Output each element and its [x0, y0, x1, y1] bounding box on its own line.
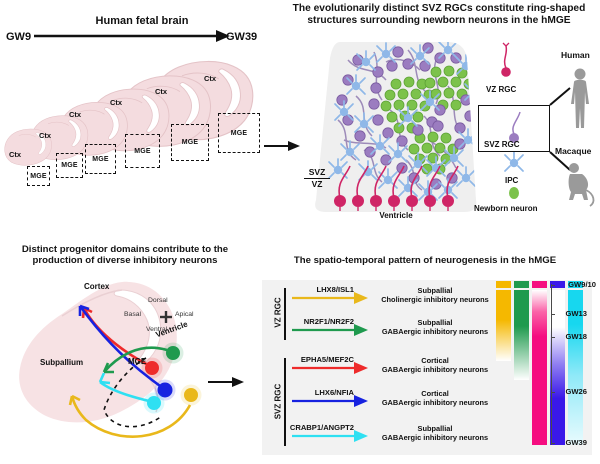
panel-c-to-d-arrow — [208, 377, 244, 387]
species-connectors — [550, 88, 570, 170]
arrowhead-nr2f1-nr2f2 — [354, 324, 368, 336]
panel-progenitor-domains: Distinct progenitor domains contribute t… — [0, 240, 252, 464]
legend-label-vz-rgc: VZ RGC — [486, 85, 516, 94]
arrowhead-crabp1-angpt2 — [354, 430, 368, 442]
gene-label-row-3: EPHA5/MEF2C — [278, 355, 354, 364]
tick-gw26 — [552, 392, 555, 393]
gw-label-2: GW13 — [565, 309, 587, 318]
neuron-type-row-5-line1: Subpallial — [370, 424, 500, 433]
ctx-label-6: Ctx — [204, 74, 216, 83]
gw-label-1: GW9/10 — [568, 280, 596, 289]
species-label-macaque: Macaque — [555, 146, 591, 156]
gene-label-row-4: LHX6/NFIA — [282, 388, 354, 397]
gw-label-5: GW39 — [565, 438, 587, 447]
neuron-type-row-2-line2: GABAergic inhibitory neurons — [370, 327, 500, 336]
green-domain-dot — [166, 346, 180, 360]
timeline-end-label: GW39 — [226, 31, 257, 43]
tick-gw13 — [552, 314, 555, 315]
bar-nr2f1-nr2f2 — [514, 290, 529, 380]
compass-basal: Basal — [124, 311, 141, 318]
panel-fetal-brain-timeline: Human fetal brain GW9 GW39 Ctx Ctx Ctx C… — [0, 0, 300, 232]
mge-box-3: MGE — [85, 144, 116, 174]
mge-label: MGE — [128, 357, 146, 366]
neuron-type-row-4: Cortical GABAergic inhibitory neurons — [370, 389, 500, 408]
tick-gw9-10 — [552, 285, 555, 286]
cortex-label: Cortex — [84, 282, 109, 291]
legend-label-svz-rgc: SVZ RGC — [484, 140, 520, 149]
legend-vz-rgc-glyph — [501, 43, 511, 77]
bar-epha5-mef2c — [532, 290, 547, 445]
yellow-domain-dot — [184, 388, 198, 402]
ctx-label-4: Ctx — [110, 98, 122, 107]
neuron-type-row-5: Subpallial GABAergic inhibitory neurons — [370, 424, 500, 443]
gestational-week-axis — [551, 284, 552, 445]
svz-vz-zone-label: SVZ VZ — [304, 168, 330, 190]
neuron-type-row-4-line1: Cortical — [370, 389, 500, 398]
neuron-type-row-4-line2: GABAergic inhibitory neurons — [370, 398, 500, 407]
ctx-label-2: Ctx — [39, 131, 51, 140]
bar-cap-lhx8-isl1 — [496, 281, 511, 288]
legend-label-newborn-neuron: Newborn neuron — [474, 204, 538, 213]
compass-dorsal: Dorsal — [148, 297, 168, 304]
legend-label-ipc: IPC — [505, 176, 518, 185]
mge-box-2: MGE — [56, 153, 83, 178]
neuron-type-row-1: Subpallial Cholinergic inhibitory neuron… — [370, 286, 500, 305]
macaque-silhouette — [569, 163, 594, 206]
timeline-arrow — [34, 30, 230, 42]
neuron-type-row-2-line1: Subpallial — [370, 318, 500, 327]
gw-label-3: GW18 — [565, 332, 587, 341]
legend-newborn-neuron-glyph — [509, 187, 519, 199]
arrowhead-lhx6-nfia — [354, 395, 368, 407]
ventricle-label: Ventricle — [316, 211, 476, 220]
panel-spatiotemporal-neurogenesis: The spatio-temporal pattern of neurogene… — [252, 252, 600, 464]
species-label-human: Human — [561, 50, 590, 60]
compass-ventral: Ventral — [146, 326, 167, 333]
neuron-type-row-3-line1: Cortical — [370, 356, 500, 365]
arrowhead-lhx8-isl1 — [354, 292, 368, 304]
neuron-type-row-5-line2: GABAergic inhibitory neurons — [370, 433, 500, 442]
svz-label: SVZ — [309, 167, 326, 177]
mge-box-1: MGE — [27, 166, 50, 186]
gene-label-row-2: NR2F1/NR2F2 — [282, 317, 354, 326]
gene-label-row-5: CRABP1/ANGPT2 — [274, 423, 354, 432]
neuron-type-row-2: Subpallial GABAergic inhibitory neurons — [370, 318, 500, 337]
tick-gw18 — [552, 337, 555, 338]
gene-label-row-1: LHX8/ISL1 — [286, 285, 354, 294]
neuron-type-row-3-line2: GABAergic inhibitory neurons — [370, 365, 500, 374]
bar-cap-epha5-mef2c — [532, 281, 547, 288]
subpallium-schematic-svg — [0, 240, 252, 464]
mge-box-6: MGE — [218, 113, 260, 153]
arrowhead-epha5-mef2c — [354, 362, 368, 374]
subpallium-label: Subpallium — [40, 358, 83, 367]
ctx-label-5: Ctx — [155, 87, 167, 96]
bar-cap-nr2f1-nr2f2 — [514, 281, 529, 288]
timeline-start-label: GW9 — [6, 31, 31, 43]
panel-svz-rgc-rings: The evolutionarily distinct SVZ RGCs con… — [278, 0, 600, 232]
neuron-type-row-3: Cortical GABAergic inhibitory neurons — [370, 356, 500, 375]
mge-box-4: MGE — [125, 134, 160, 168]
vz-label: VZ — [312, 179, 323, 189]
compass-apical: Apical — [175, 311, 194, 318]
cyan-domain-dot — [147, 396, 161, 410]
legend-ipc-glyph — [505, 152, 523, 171]
human-silhouette — [571, 69, 589, 129]
neuron-type-row-1-line1: Subpallial — [370, 286, 500, 295]
mge-box-5: MGE — [171, 124, 209, 161]
gw-label-4: GW26 — [565, 387, 587, 396]
ctx-label-1: Ctx — [9, 150, 21, 159]
timeline-label: Human fetal brain — [62, 15, 222, 27]
neuron-type-row-1-line2: Cholinergic inhibitory neurons — [370, 295, 500, 304]
tick-gw39 — [552, 443, 555, 444]
mge-wedge-svg — [278, 0, 600, 232]
bar-lhx8-isl1 — [496, 290, 511, 361]
ctx-label-3: Ctx — [69, 110, 81, 119]
